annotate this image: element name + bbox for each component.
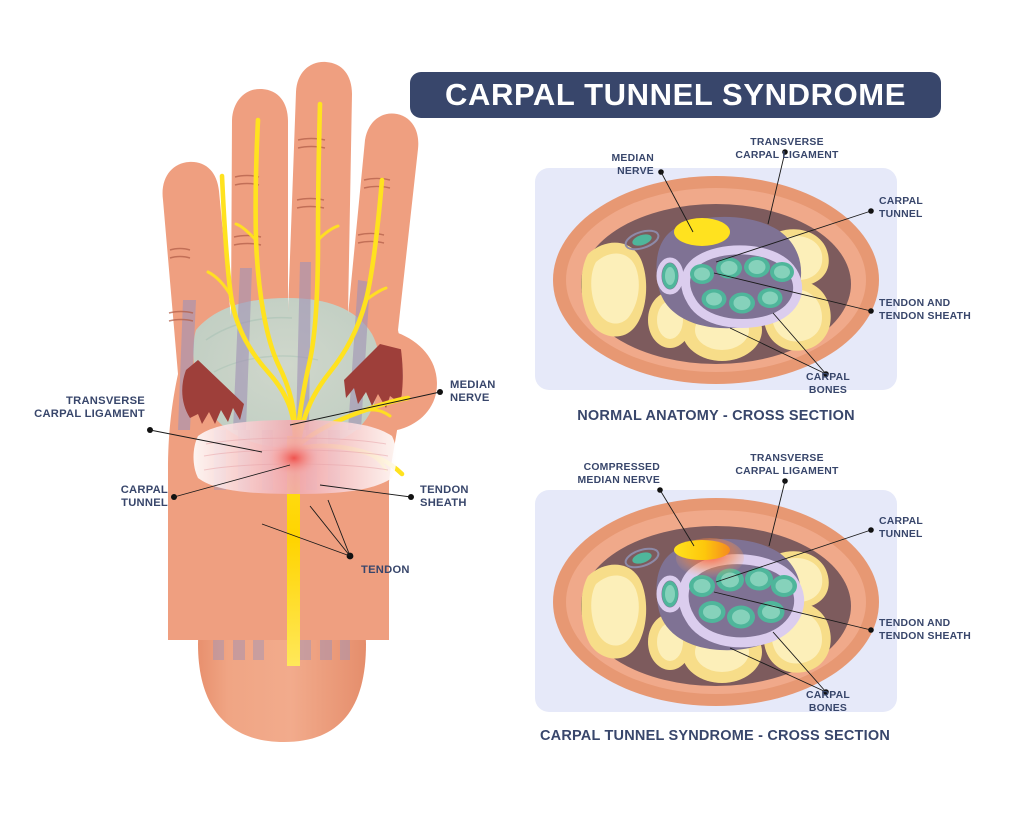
label-hand-tendon: TENDON — [361, 564, 451, 577]
label-cts-compressed-median-nerve: COMPRESSED MEDIAN NERVE — [530, 462, 660, 487]
label-cts-carpal-bones: CARPAL BONES — [782, 690, 874, 715]
label-line: CARPAL LIGAMENT — [712, 466, 862, 479]
label-hand-transverse-carpal-ligament: TRANSVERSE CARPAL LIGAMENT — [0, 395, 145, 422]
label-line: CARPAL — [782, 372, 874, 385]
label-line: NERVE — [560, 166, 654, 179]
label-normal-carpal-bones: CARPAL BONES — [782, 372, 874, 397]
label-line: TUNNEL — [0, 497, 168, 510]
label-line: TENDON AND — [879, 298, 1019, 311]
leader-hand-median-nerve — [290, 389, 443, 425]
label-line: TENDON SHEATH — [879, 311, 1019, 324]
label-line: TUNNEL — [879, 529, 999, 542]
leader-hand-carpal-tunnel — [171, 465, 290, 500]
label-normal-tendon-and-tendon-sheath: TENDON AND TENDON SHEATH — [879, 298, 1019, 323]
label-line: SHEATH — [420, 497, 540, 510]
caption-normal-cross-section: NORMAL ANATOMY - CROSS SECTION — [535, 408, 897, 424]
diagram-canvas: CARPAL TUNNEL SYNDROME TRANSVERSE CARPAL… — [0, 0, 1024, 818]
leader-cts-tendon-sheath — [714, 592, 874, 633]
label-line: TENDON SHEATH — [879, 631, 1019, 644]
leader-normal-tendon-sheath — [714, 273, 874, 314]
label-line: MEDIAN — [450, 379, 570, 392]
label-line: TENDON — [361, 564, 451, 577]
label-line: TUNNEL — [879, 209, 999, 222]
label-normal-median-nerve: MEDIAN NERVE — [560, 153, 654, 178]
label-line: CARPAL LIGAMENT — [0, 408, 145, 421]
leader-normal-carpal-bones — [730, 313, 829, 377]
label-hand-carpal-tunnel: CARPAL TUNNEL — [0, 484, 168, 511]
label-line: CARPAL — [879, 196, 999, 209]
label-line: BONES — [782, 703, 874, 716]
leader-cts-carpal-bones — [730, 632, 829, 695]
label-line: TRANSVERSE — [712, 453, 862, 466]
label-line: MEDIAN — [560, 153, 654, 166]
label-normal-transverse-carpal-ligament: TRANSVERSE CARPAL LIGAMENT — [712, 137, 862, 162]
leader-hand-tendon-sheath — [320, 485, 414, 500]
label-line: CARPAL — [782, 690, 874, 703]
label-line: TENDON — [420, 484, 540, 497]
label-line: TRANSVERSE — [0, 395, 145, 408]
label-line: NERVE — [450, 392, 570, 405]
label-line: MEDIAN NERVE — [530, 475, 660, 488]
label-normal-carpal-tunnel: CARPAL TUNNEL — [879, 196, 999, 221]
page-title: CARPAL TUNNEL SYNDROME — [445, 77, 906, 113]
label-hand-median-nerve: MEDIAN NERVE — [450, 379, 570, 406]
leader-hand-transverse-carpal-ligament — [147, 427, 262, 452]
leader-cts-transverse-carpal-ligament — [769, 478, 788, 546]
label-cts-tendon-and-tendon-sheath: TENDON AND TENDON SHEATH — [879, 618, 1019, 643]
leader-cts-compressed-median-nerve — [657, 487, 694, 546]
label-line: BONES — [782, 385, 874, 398]
label-line: TRANSVERSE — [712, 137, 862, 150]
label-line: CARPAL — [0, 484, 168, 497]
leader-cts-carpal-tunnel — [716, 527, 874, 582]
label-line: TENDON AND — [879, 618, 1019, 631]
label-hand-tendon-sheath: TENDON SHEATH — [420, 484, 540, 511]
label-line: COMPRESSED — [530, 462, 660, 475]
page-title-banner: CARPAL TUNNEL SYNDROME — [410, 72, 941, 118]
label-line: CARPAL — [879, 516, 999, 529]
leader-hand-tendon — [262, 500, 353, 559]
label-cts-carpal-tunnel: CARPAL TUNNEL — [879, 516, 999, 541]
leader-normal-carpal-tunnel — [716, 208, 874, 262]
caption-cts-cross-section: CARPAL TUNNEL SYNDROME - CROSS SECTION — [515, 728, 915, 744]
label-line: CARPAL LIGAMENT — [712, 150, 862, 163]
label-cts-transverse-carpal-ligament: TRANSVERSE CARPAL LIGAMENT — [712, 453, 862, 478]
leader-normal-median-nerve — [658, 169, 693, 232]
